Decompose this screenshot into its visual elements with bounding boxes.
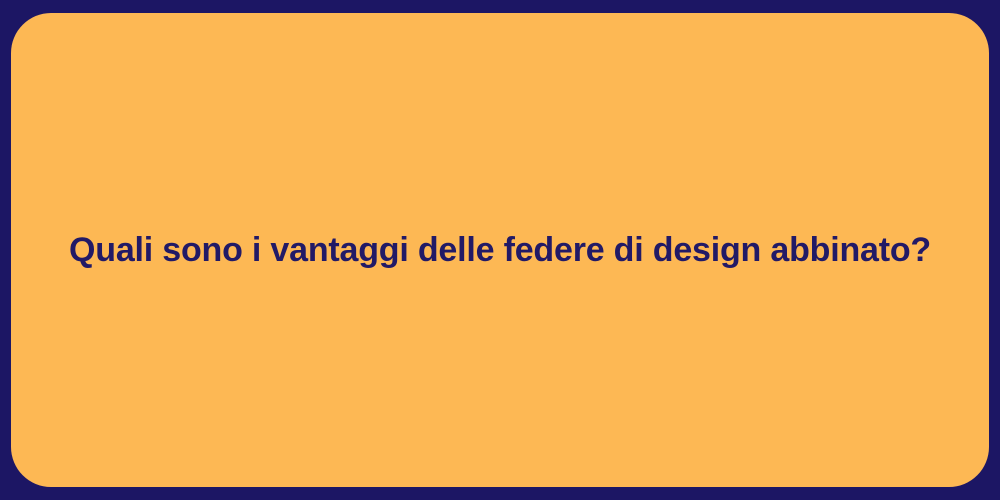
page-title: Quali sono i vantaggi delle federe di de…	[29, 229, 971, 272]
card-panel: Quali sono i vantaggi delle federe di de…	[11, 13, 989, 487]
card-frame: Quali sono i vantaggi delle federe di de…	[0, 0, 1000, 500]
